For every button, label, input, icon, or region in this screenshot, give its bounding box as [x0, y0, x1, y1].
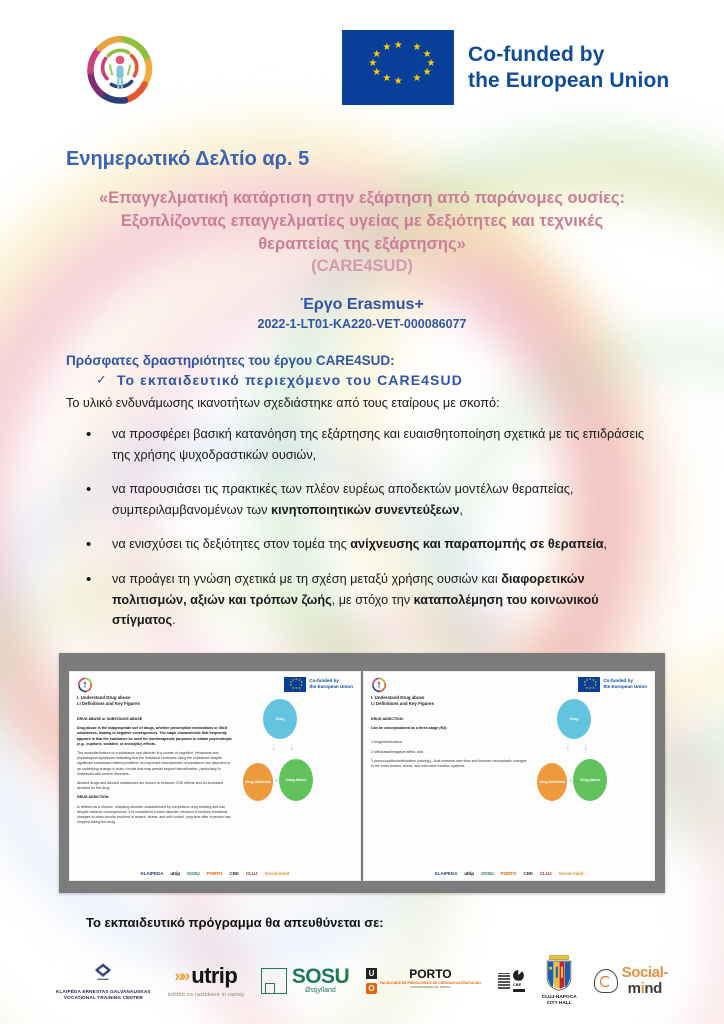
booklet-left-page: ★ ★ ★ ★ ★ ★ ★ ★ ★ ★: [69, 671, 361, 881]
footer-logo-socialmind-right: Social-mind: [558, 871, 583, 876]
eu-funding-line-1: Co-funded by: [468, 42, 669, 68]
partner-klaipeda-vtc: KLAIPĖDA ERNESTAS GALVANAUSKAS VOCATIONA…: [56, 960, 151, 1001]
mini-eu-line-2: the European Union: [309, 684, 353, 690]
left-page-heading-2: I.I Definitions and Key Figures: [77, 701, 233, 708]
left-page-para-2: The essential feature of a substance use…: [77, 751, 233, 777]
partner-sosu-ostjylland: SOSU Østjylland: [261, 967, 349, 994]
mini-eu-emblem-right: ★ ★ ★ ★ ★ ★ ★ ★ ★ ★: [578, 677, 647, 692]
cbe-wordmark: CBE: [513, 982, 521, 987]
footer-logo-klaipeda-right: KLAIPEDA: [435, 871, 458, 876]
social-mind-line-2: mind: [622, 981, 668, 997]
partner-cluj-napoca-city-hall: CLUJ-NAPOCA CITY HALL: [542, 954, 577, 1008]
diagram-node-addiction-right: Drug Addiction: [537, 763, 567, 801]
diagram-node-abuse-right: Drug Abuse: [573, 759, 607, 801]
partner-porto-fpce: U O PORTO FACULDADE DE PSICOLOGIA E DE C…: [366, 968, 481, 994]
project-title: «Επαγγελματική κατάρτιση στην εξάρτηση α…: [92, 187, 632, 278]
utrip-wordmark: utrip: [191, 963, 237, 989]
footer-logo-sosu: SOSU: [187, 871, 200, 876]
mini-eu-flag-icon: ★ ★ ★ ★ ★ ★ ★ ★ ★ ★: [284, 677, 306, 692]
cbe-bars-icon: [498, 973, 510, 989]
partner-logo-strip: KLAIPĖDA ERNESTAS GALVANAUSKAS VOCATIONA…: [52, 954, 672, 1008]
social-mind-line-1: Social-: [622, 965, 668, 981]
eu-flag-icon: ★ ★ ★ ★ ★ ★ ★ ★ ★ ★ ★ ★: [342, 30, 454, 105]
right-page-item-1: 1 binge/intoxication,: [371, 740, 527, 745]
eu-funding-emblem: ★ ★ ★ ★ ★ ★ ★ ★ ★ ★ ★ ★ Co-funded by the…: [342, 30, 669, 105]
partner-utrip: »» utrip inštitut za raziskave in razvoj: [168, 963, 244, 998]
diagram-node-drug-right: Drug: [557, 699, 591, 739]
booklet-spread: ★ ★ ★ ★ ★ ★ ★ ★ ★ ★: [69, 671, 655, 881]
porto-university-line: UNIVERSIDADE DO PORTO: [380, 985, 481, 989]
project-acronym: (CARE4SUD): [311, 257, 413, 275]
klaipeda-diamond-icon: [86, 960, 120, 986]
newsletter-issue-title: Ενημερωτικό Δελτίο αρ. 5: [66, 148, 724, 171]
left-page-subheading: DRUG ABUSE or SUBSTANCE ABUSE: [77, 717, 233, 722]
sosu-sublabel: Østjylland: [292, 987, 349, 994]
right-page-heading-2: I.I Definitions and Key Figures: [371, 701, 527, 708]
footer-logo-cbe: CBE: [229, 871, 238, 876]
footer-logo-utrip-right: utrip: [464, 871, 474, 876]
right-page-heading-1: I. Understand Drug abuse: [371, 695, 527, 702]
activities-bullet-item: να προάγει τη γνώση σχετικά με τη σχέση …: [112, 569, 662, 631]
project-title-text: «Επαγγελματική κατάρτιση στην εξάρτηση α…: [99, 189, 625, 253]
sosu-building-icon: [261, 968, 287, 994]
diagram-node-addiction: Drug Addiction: [243, 763, 273, 801]
footer-logo-sosu-right: SOSU: [481, 871, 494, 876]
programme-label: Έργο Erasmus+: [92, 296, 632, 314]
footer-logo-cluj-right: CLUJ: [540, 871, 552, 876]
porto-o-mark-icon: O: [366, 983, 377, 994]
mini-care4sud-logo-icon-right: [371, 677, 387, 693]
right-page-partner-logos: KLAIPEDA utrip SOSU PORTO CBE CLUJ Socia…: [363, 871, 655, 876]
care4sud-logo-icon: [84, 34, 156, 106]
audience-heading: Το εκπαιδευτικό πρόγραμμα θα απευθύνεται…: [86, 915, 724, 930]
bullet-1-run-1: κινητοποιητικών συνεντεύξεων: [271, 503, 459, 517]
mini-eu-text: Co-funded by the European Union: [309, 678, 353, 689]
newsletter-page: ★ ★ ★ ★ ★ ★ ★ ★ ★ ★ ★ ★ Co-funded by the…: [0, 0, 724, 1024]
mini-eu-flag-icon-right: ★ ★ ★ ★ ★ ★ ★ ★ ★ ★: [578, 677, 600, 692]
activities-bullet-item: να παρουσιάσει τις πρακτικές των πλέον ε…: [112, 479, 662, 520]
partner-social-mind: Social- mind: [594, 965, 668, 997]
footer-logo-klaipeda: KLAIPEDA: [141, 871, 164, 876]
porto-wordmark: PORTO: [380, 968, 481, 980]
klaipeda-caption: KLAIPĖDA ERNESTAS GALVANAUSKAS VOCATIONA…: [56, 989, 151, 1001]
left-page-para-1: Drug abuse is the inappropriate use of d…: [77, 726, 233, 747]
left-page-para-4: is defined as a chronic, relapsing disor…: [77, 805, 233, 826]
bullet-2-run-1: ανίχνευσης και παραπομπής σε θεραπεία: [350, 537, 603, 551]
eu-funding-text: Co-funded by the European Union: [468, 42, 669, 93]
booklet-mockup-image: ★ ★ ★ ★ ★ ★ ★ ★ ★ ★: [59, 653, 665, 893]
mini-eu-text-right: Co-funded by the European Union: [603, 678, 647, 689]
social-mind-head-icon: [594, 969, 618, 993]
activities-subsection-label: Το εκπαιδευτικό περιεχόμενο του CARE4SUD: [117, 372, 463, 388]
social-mind-m: m: [628, 980, 641, 997]
left-page-para-3: Abused drugs and abused substances are k…: [77, 781, 233, 791]
right-page-item-3: 3 preoccupation/anticipation (craving)—t…: [371, 759, 527, 769]
bullet-2-run-2: ,: [604, 537, 608, 551]
booklet-right-page: ★ ★ ★ ★ ★ ★ ★ ★ ★ ★: [363, 671, 655, 881]
diagram-node-drug: Drug: [263, 699, 297, 739]
utrip-tagline: inštitut za raziskave in razvoj: [168, 992, 244, 998]
left-page-partner-logos: KLAIPEDA utrip SOSU PORTO CBE CLUJ Socia…: [69, 871, 361, 876]
left-page-diagram: Drug ↓ ↓ Drug Addiction Drug Abuse ←: [237, 695, 353, 826]
bullet-1-run-2: ,: [459, 503, 463, 517]
mini-care4sud-logo-icon: [77, 677, 93, 693]
activities-lead: Το υλικό ενδυνάμωσης ικανοτήτων σχεδιάστ…: [66, 396, 724, 410]
bullet-0-run-0: να προσφέρει βασική κατανόηση της εξάρτη…: [112, 427, 644, 462]
left-page-heading-1: I. Understand Drug abuse: [77, 695, 233, 702]
cbe-pie-icon: [513, 970, 524, 981]
activities-subsection: ✓ Το εκπαιδευτικό περιεχόμενο του CARE4S…: [96, 372, 724, 388]
utrip-chevrons-icon: »»: [174, 966, 187, 986]
footer-logo-cbe-right: CBE: [523, 871, 532, 876]
social-mind-nd: nd: [644, 980, 662, 997]
sosu-wordmark: SOSU: [292, 967, 349, 987]
bullet-3-run-0: να προάγει τη γνώση σχετικά με τη σχέση …: [112, 572, 501, 586]
porto-u-mark-icon: U: [366, 968, 377, 979]
footer-logo-cluj: CLUJ: [246, 871, 258, 876]
diagram-node-abuse: Drug Abuse: [279, 759, 313, 801]
mini-eu-emblem: ★ ★ ★ ★ ★ ★ ★ ★ ★ ★: [284, 677, 353, 692]
cluj-napoca-crest-icon: [543, 954, 575, 992]
cluj-caption-line-2: CITY HALL: [542, 1001, 577, 1007]
footer-logo-utrip: utrip: [170, 871, 180, 876]
right-page-subheading: DRUG ADDICTION:: [371, 717, 527, 722]
right-page-item-2: 2 withdrawal/negative affect, and: [371, 750, 527, 755]
page-header: ★ ★ ★ ★ ★ ★ ★ ★ ★ ★ ★ ★ Co-funded by the…: [0, 0, 724, 120]
cluj-caption: CLUJ-NAPOCA CITY HALL: [542, 995, 577, 1008]
bullet-2-run-0: να ενισχύσει τις δεξιότητες στον τομέα τ…: [112, 537, 350, 551]
bullet-3-run-2: , με στόχο την: [332, 593, 414, 607]
footer-logo-porto-right: PORTO: [501, 871, 517, 876]
klaipeda-caption-line-2: VOCATIONAL TRAINING CENTER: [56, 995, 151, 1001]
footer-logo-socialmind: Social-mind: [264, 871, 289, 876]
footer-logo-porto: PORTO: [207, 871, 223, 876]
left-page-subheading-2: DRUG ADDICTION: [77, 795, 233, 800]
activities-bullet-list: να προσφέρει βασική κατανόηση της εξάρτη…: [0, 424, 724, 631]
right-page-diagram: Drug ↓ ↓ Drug Addiction Drug Abuse ←: [531, 695, 647, 769]
cbe-block-icon: [513, 989, 525, 992]
check-icon: ✓: [96, 372, 107, 388]
activities-bullet-item: να ενισχύσει τις δεξιότητες στον τομέα τ…: [112, 534, 662, 555]
mini-eu-line-2-right: the European Union: [603, 684, 647, 690]
activities-bullet-item: να προσφέρει βασική κατανόηση της εξάρτη…: [112, 424, 662, 465]
activities-heading: Πρόσφατες δραστηριότητες του έργου CARE4…: [66, 353, 724, 368]
grant-number: 2022-1-LT01-KA220-VET-000086077: [92, 317, 632, 331]
partner-cbe: CBE: [498, 970, 525, 992]
eu-funding-line-2: the European Union: [468, 68, 669, 94]
bullet-3-run-4: .: [172, 613, 176, 627]
